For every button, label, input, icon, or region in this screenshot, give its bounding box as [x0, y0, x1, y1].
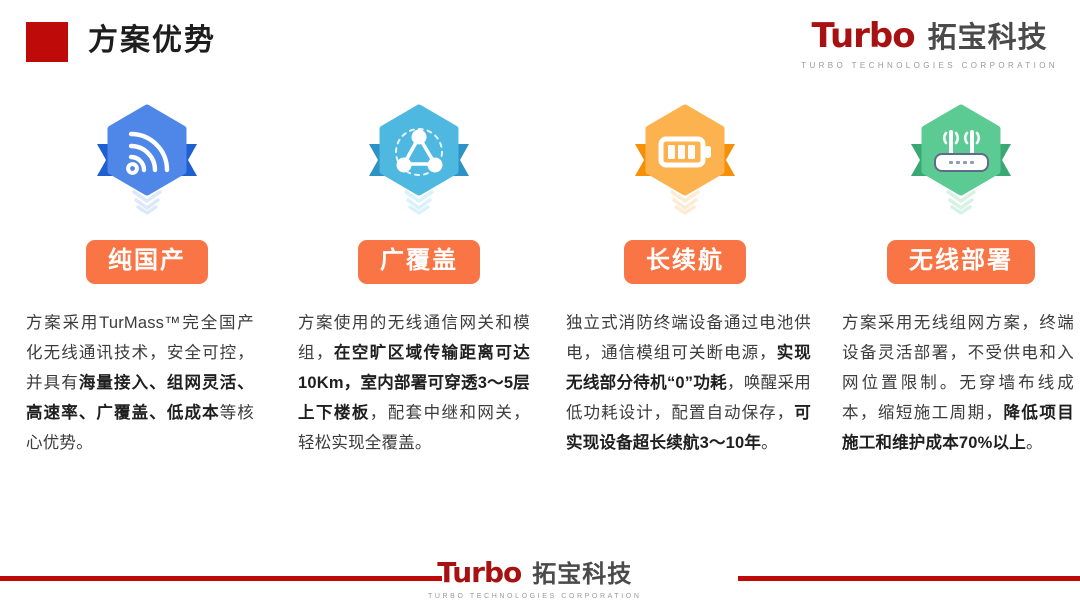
page-title: 方案优势 [88, 18, 216, 64]
advantage-card-wide-coverage: 广覆盖 方案使用的无线通信网关和模组，在空旷区域传输距离可达10Km，室内部署可… [294, 96, 544, 458]
brand-subtitle: TURBO TECHNOLOGIES CORPORATION [801, 61, 1058, 70]
advantage-label-pill[interactable]: 长续航 [624, 240, 746, 284]
brand-subtitle: TURBO TECHNOLOGIES CORPORATION [428, 593, 641, 600]
badge-container [22, 96, 272, 216]
battery-badge-icon [625, 96, 745, 216]
advantage-description: 独立式消防终端设备通过电池供电，通信模组可关断电源，实现无线部分待机“0”功耗，… [566, 308, 811, 458]
badge-container [836, 96, 1080, 216]
badge-container [294, 96, 544, 216]
brand-latin-name: Turbo [812, 16, 915, 56]
badge-container [560, 96, 810, 216]
network-nodes-badge-icon [359, 96, 479, 216]
footer-rule-left [0, 576, 442, 581]
label-container: 纯国产 [22, 216, 272, 308]
advantage-description: 方案采用无线组网方案，终端设备灵活部署，不受供电和入网位置限制。无穿墙布线成本，… [842, 308, 1074, 458]
advantage-label-pill[interactable]: 无线部署 [887, 240, 1035, 284]
advantage-card-long-battery: 长续航 独立式消防终端设备通过电池供电，通信模组可关断电源，实现无线部分待机“0… [560, 96, 810, 458]
wifi-signal-badge-icon [87, 96, 207, 216]
brand-name-row: Turbo 拓宝科技 [437, 554, 632, 589]
wireless-router-badge-icon [901, 96, 1021, 216]
footer-rule-right [738, 576, 1080, 581]
advantage-description: 方案使用的无线通信网关和模组，在空旷区域传输距离可达10Km，室内部署可穿透3～… [298, 308, 530, 458]
title-marker [26, 22, 68, 62]
page-header: 方案优势 Turbo 拓宝科技 TURBO TECHNOLOGIES CORPO… [0, 0, 1080, 86]
advantage-description: 方案采用TurMass™完全国产化无线通讯技术，安全可控，并具有海量接入、组网灵… [26, 308, 254, 458]
page-footer: Turbo 拓宝科技 TURBO TECHNOLOGIES CORPORATIO… [0, 546, 1080, 608]
footer-brand-logo: Turbo 拓宝科技 TURBO TECHNOLOGIES CORPORATIO… [428, 554, 641, 600]
advantage-card-pure-domestic: 纯国产 方案采用TurMass™完全国产化无线通讯技术，安全可控，并具有海量接入… [22, 96, 272, 458]
advantage-card-grid: 纯国产 方案采用TurMass™完全国产化无线通讯技术，安全可控，并具有海量接入… [0, 96, 1080, 546]
brand-latin-name: Turbo [437, 556, 521, 589]
label-container: 广覆盖 [294, 216, 544, 308]
advantage-label-pill[interactable]: 广覆盖 [358, 240, 480, 284]
header-brand-logo: Turbo 拓宝科技 TURBO TECHNOLOGIES CORPORATIO… [801, 14, 1058, 70]
advantage-label-pill[interactable]: 纯国产 [86, 240, 208, 284]
advantage-card-wireless-deployment: 无线部署 方案采用无线组网方案，终端设备灵活部署，不受供电和入网位置限制。无穿墙… [836, 96, 1080, 458]
label-container: 长续航 [560, 216, 810, 308]
brand-name-row: Turbo 拓宝科技 [812, 14, 1048, 56]
brand-chinese-name: 拓宝科技 [928, 14, 1048, 56]
brand-chinese-name: 拓宝科技 [532, 554, 632, 589]
label-container: 无线部署 [836, 216, 1080, 308]
